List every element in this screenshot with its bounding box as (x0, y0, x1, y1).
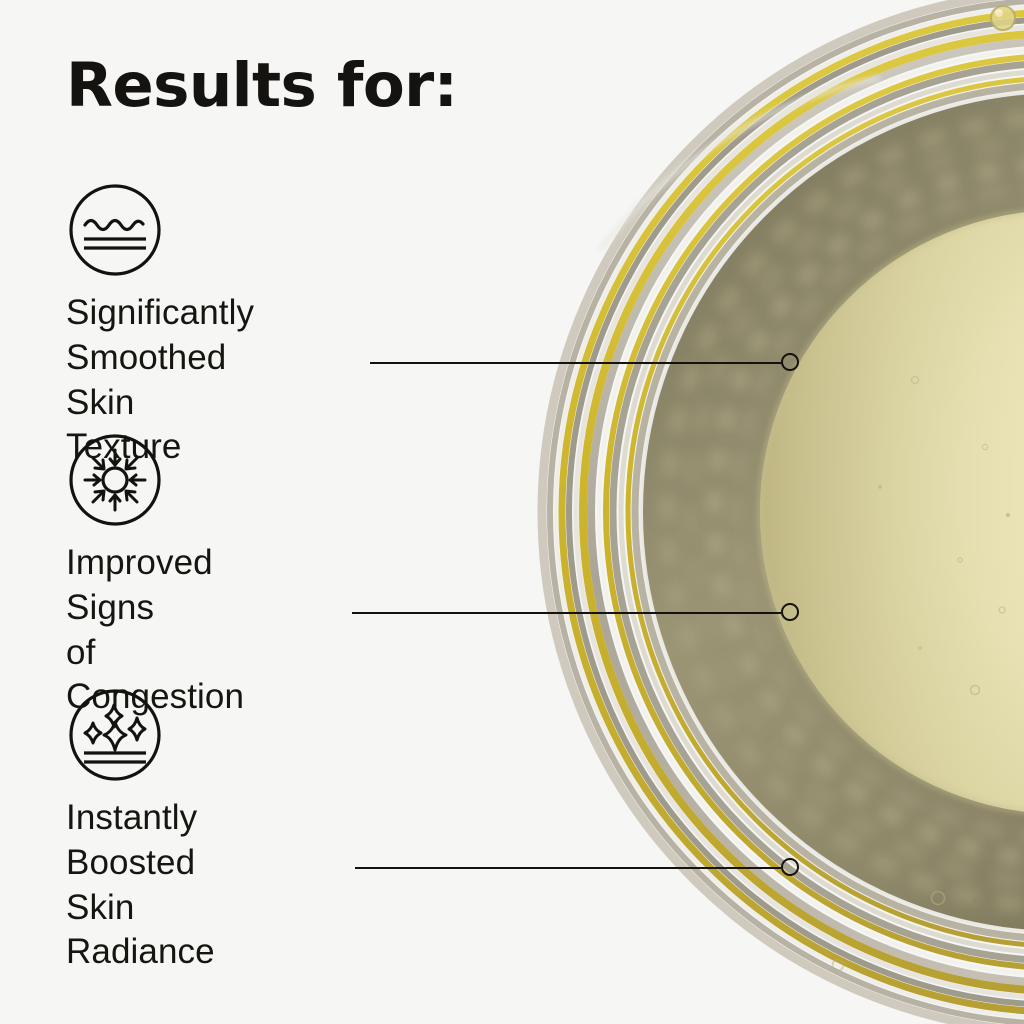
leader-endpoint-dot (781, 858, 799, 876)
page-title: Results for: (66, 54, 457, 118)
leader-line-congestion (352, 603, 799, 623)
leader-line-stroke (355, 867, 781, 869)
congestion-inward-arrows-icon (68, 433, 162, 527)
results-infographic: Results for: Significantly Smoothed Skin… (0, 0, 1024, 1024)
leader-line-radiance (355, 858, 799, 878)
radiance-sparkles-icon (68, 688, 162, 782)
leader-line-skin-texture (370, 353, 799, 373)
leader-line-stroke (352, 612, 781, 614)
leader-endpoint-dot (781, 603, 799, 621)
skin-texture-waves-icon (68, 183, 162, 277)
benefit-label: Instantly Boosted Skin Radiance (66, 796, 215, 975)
leader-endpoint-dot (781, 353, 799, 371)
leader-line-stroke (370, 362, 781, 364)
